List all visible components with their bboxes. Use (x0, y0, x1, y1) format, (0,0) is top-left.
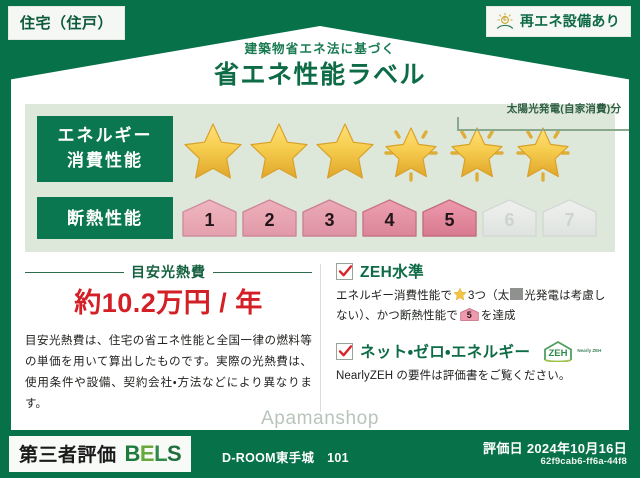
renewable-equipment-badge: 再エネ設備あり (486, 6, 631, 37)
label-card: 建築物省エネ法に基づく 省エネ性能ラベル エネルギー 消費性能 太陽光発電(自家… (11, 26, 629, 430)
insulation-chip-4: 4 (361, 198, 418, 238)
evaluation-date: 評価日 2024年10月16日 (483, 438, 627, 457)
net-zero-checkbox[interactable] (336, 343, 353, 360)
redacted-character (510, 288, 523, 300)
inline-insulation-chip: 5 (460, 307, 479, 322)
zeh-level-body: エネルギー消費性能で3つ（太光発電は考慮しない）、かつ断熱性能で5を達成 (336, 286, 615, 326)
category-tag: 住宅（住戸） (8, 6, 125, 40)
solar-bracket (457, 117, 640, 131)
insulation-performance-label: 断熱性能 (37, 197, 173, 239)
star-1 (181, 119, 245, 183)
zeh-house-icon: ZEH Nearly ZEH (541, 340, 601, 362)
net-zero-body: NearlyZEH の要件は評価書をご覧ください。 (336, 366, 615, 386)
rating-panel: エネルギー 消費性能 太陽光発電(自家消費)分 (25, 104, 615, 252)
cost-column: 目安光熱費 約10.2万円 / 年 目安光熱費は、住宅の省エネ性能と全国一律の燃… (25, 258, 320, 424)
insulation-chip-3: 3 (301, 198, 358, 238)
energy-label-root: 建築物省エネ法に基づく 省エネ性能ラベル エネルギー 消費性能 太陽光発電(自家… (0, 0, 640, 478)
insulation-label-text: 断熱性能 (37, 210, 173, 227)
inline-star-icon (453, 287, 467, 301)
zeh-level-title: ZEH水準 (360, 260, 424, 282)
insulation-level-scale: 1 2 3 (173, 198, 615, 238)
bels-badge: 第三者評価 BELS (9, 436, 191, 472)
inline-chip-value: 5 (460, 311, 479, 320)
energy-performance-label: エネルギー 消費性能 (37, 116, 173, 182)
insulation-chip-5: 5 (421, 198, 478, 238)
sun-icon (495, 12, 515, 30)
bels-logo: BELS (125, 443, 182, 465)
evaluation-id: 62f9cab6-ff6a-44f8 (540, 456, 627, 467)
zeh-body-part2: 3つ（太 (468, 290, 509, 302)
insulation-chip-3-value: 3 (301, 211, 358, 229)
star-2 (247, 119, 311, 183)
footer-bar: 第三者評価 BELS D-ROOM東手城 101 評価日 2024年10月16日… (0, 430, 640, 478)
page-title: 省エネ性能ラベル (11, 62, 629, 90)
insulation-chip-1-value: 1 (181, 211, 238, 229)
info-area: 目安光熱費 約10.2万円 / 年 目安光熱費は、住宅の省エネ性能と全国一律の燃… (25, 258, 615, 424)
property-name: D-ROOM東手城 101 (222, 447, 349, 466)
zeh-logo-subtext: Nearly ZEH (577, 349, 601, 354)
cost-rule-right (213, 272, 312, 273)
cost-rule-left (25, 272, 124, 273)
check-item-zeh-level: ZEH水準 エネルギー消費性能で3つ（太光発電は考慮しない）、かつ断熱性能で5を… (336, 260, 615, 326)
renewable-badge-label: 再エネ設備あり (520, 11, 620, 31)
insulation-chip-7: 7 (541, 198, 598, 238)
zeh-level-checkbox[interactable] (336, 263, 353, 280)
insulation-chip-4-value: 4 (361, 211, 418, 229)
check-item-net-zero-energy: ネット・ゼロ・エネルギー ZEH Nearly ZEH NearlyZEH の (336, 340, 615, 386)
energy-label-line2: 消費性能 (37, 149, 173, 174)
insulation-chip-6: 6 (481, 198, 538, 238)
cost-note: 目安光熱費は、住宅の省エネ性能と全国一律の燃料等の単価を用いて算出したものです。… (25, 331, 312, 416)
energy-star-rating: 太陽光発電(自家消費)分 (173, 119, 615, 183)
insulation-chip-2: 2 (241, 198, 298, 238)
net-zero-title: ネット・ゼロ・エネルギー (360, 340, 530, 362)
zeh-body-part4: を達成 (481, 310, 516, 322)
energy-label-line1: エネルギー (37, 124, 173, 149)
cost-heading: 目安光熱費 (25, 262, 312, 282)
bels-japanese-label: 第三者評価 (19, 440, 117, 467)
checks-column: ZEH水準 エネルギー消費性能で3つ（太光発電は考慮しない）、かつ断熱性能で5を… (320, 258, 615, 424)
insulation-performance-row: 断熱性能 1 2 (25, 192, 615, 244)
cost-value: 約10.2万円 / 年 (25, 289, 312, 319)
star-3 (313, 119, 377, 183)
star-4-solar (379, 119, 443, 183)
insulation-chip-1: 1 (181, 198, 238, 238)
insulation-chip-5-value: 5 (421, 211, 478, 229)
insulation-chip-2-value: 2 (241, 211, 298, 229)
insulation-chip-6-value: 6 (481, 211, 538, 229)
energy-performance-row: エネルギー 消費性能 太陽光発電(自家消費)分 (25, 112, 615, 186)
cost-heading-text: 目安光熱費 (131, 262, 206, 282)
solar-caption: 太陽光発電(自家消費)分 (457, 101, 640, 116)
insulation-chip-7-value: 7 (541, 211, 598, 229)
svg-text:ZEH: ZEH (549, 348, 568, 359)
zeh-body-part1: エネルギー消費性能で (336, 290, 452, 302)
